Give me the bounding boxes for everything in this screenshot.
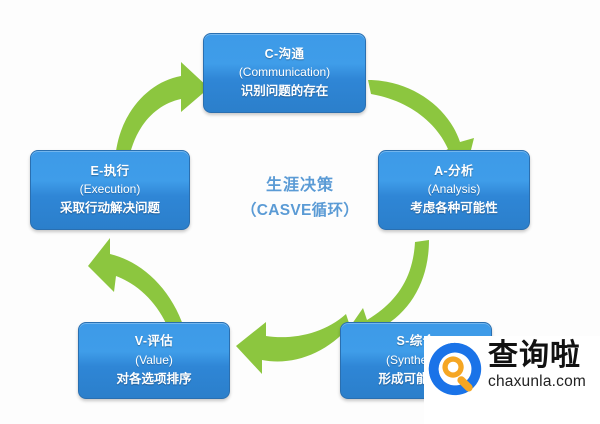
arrow-s-to-v-icon <box>236 296 354 380</box>
stage-title-c: C-沟通 <box>265 45 305 63</box>
stage-box-communication[interactable]: C-沟通 (Communication) 识别问题的存在 <box>203 33 366 113</box>
stage-description-a: 考虑各种可能性 <box>410 199 498 218</box>
watermark-text: 查询啦 chaxunla.com <box>488 336 586 391</box>
chaxunla-magnifier-logo-icon <box>424 338 486 400</box>
center-label: 生涯决策 （CASVE循环） <box>228 174 372 223</box>
stage-english-v: (Value) <box>135 351 173 370</box>
watermark: 查询啦 chaxunla.com <box>424 336 600 424</box>
watermark-brand: 查询啦 <box>488 340 586 372</box>
stage-description-v: 对各选项排序 <box>116 370 191 389</box>
watermark-url: chaxunla.com <box>488 373 586 392</box>
diagram-canvas: 生涯决策 （CASVE循环） C-沟通 (Communication) 识别问题… <box>0 0 600 424</box>
stage-english-c: (Communication) <box>239 63 330 82</box>
stage-description-c: 识别问题的存在 <box>241 82 329 101</box>
stage-english-a: (Analysis) <box>428 180 481 199</box>
stage-english-e: (Execution) <box>80 180 141 199</box>
stage-box-execution[interactable]: E-执行 (Execution) 采取行动解决问题 <box>30 150 190 230</box>
stage-description-e: 采取行动解决问题 <box>60 199 160 218</box>
stage-title-v: V-评估 <box>135 332 173 350</box>
center-label-line2: （CASVE循环） <box>228 199 372 223</box>
stage-title-e: E-执行 <box>90 162 129 180</box>
stage-box-value[interactable]: V-评估 (Value) 对各选项排序 <box>78 322 230 399</box>
stage-box-analysis[interactable]: A-分析 (Analysis) 考虑各种可能性 <box>378 150 530 230</box>
stage-title-a: A-分析 <box>434 162 474 180</box>
center-label-line1: 生涯决策 <box>228 174 372 199</box>
